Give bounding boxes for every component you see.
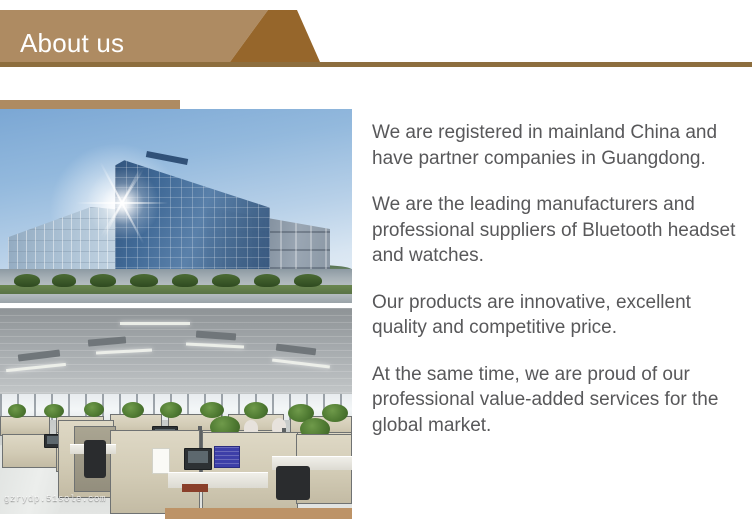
image-watermark: gzrydp.51sole.com: [4, 494, 106, 504]
office-chair: [84, 440, 106, 478]
hedge-shrub: [14, 274, 40, 287]
hedge-shrub: [294, 274, 322, 287]
hedge-shrub: [172, 274, 198, 287]
potted-plant: [84, 402, 104, 417]
about-paragraph: Our products are innovative, excellent q…: [372, 290, 736, 341]
hedge-shrub: [52, 274, 76, 287]
about-paragraph: At the same time, we are proud of our pr…: [372, 362, 736, 439]
photo-office-building-exterior: [0, 109, 352, 303]
potted-plant: [122, 402, 144, 418]
sun-flare-rays-b: [122, 203, 123, 204]
banner-bottom-rule: [0, 62, 752, 67]
media-column: gzrydp.51sole.com: [0, 95, 352, 519]
potted-plant: [160, 402, 182, 418]
hedge-shrub: [254, 274, 280, 287]
potted-plant: [322, 404, 348, 422]
hedge-shrub: [130, 274, 158, 287]
document-tray: [214, 446, 240, 468]
section-header-banner: About us: [0, 10, 752, 72]
cubicle-panel: [0, 416, 50, 436]
ceiling-light: [120, 322, 190, 325]
accent-bar-bottom: [165, 508, 352, 519]
office-chair: [276, 466, 310, 500]
about-paragraph: We are the leading manufacturers and pro…: [372, 192, 736, 269]
about-us-page: About us: [0, 0, 752, 519]
about-paragraph: We are registered in mainland China and …: [372, 120, 736, 171]
potted-plant: [44, 404, 64, 418]
book-stack: [182, 484, 208, 492]
photo-open-plan-office-interior: gzrydp.51sole.com: [0, 308, 352, 514]
about-text-column: We are registered in mainland China and …: [372, 120, 736, 438]
hedge-shrub: [90, 274, 116, 287]
desktop-monitor: [184, 448, 212, 470]
hedge-shrub: [212, 274, 240, 287]
potted-plant: [244, 402, 268, 419]
road-strip: [0, 294, 352, 303]
page-title: About us: [20, 28, 124, 58]
pinned-notice: [152, 448, 170, 474]
potted-plant: [8, 404, 26, 418]
